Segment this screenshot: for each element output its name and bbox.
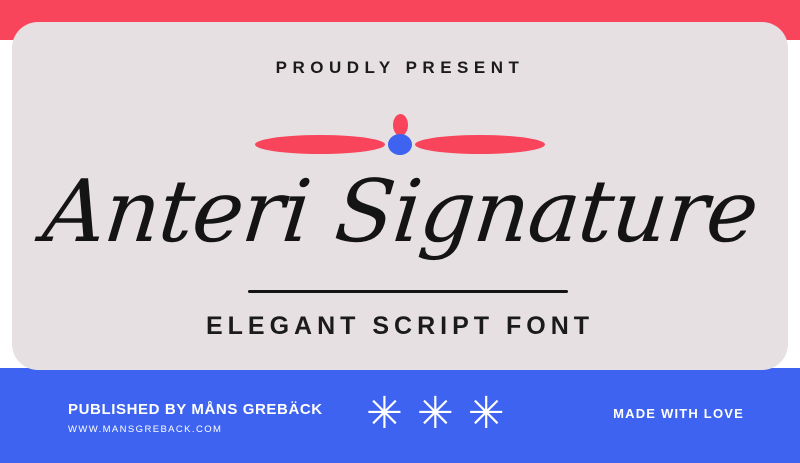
subtitle-label: ELEGANT SCRIPT FONT (12, 312, 788, 341)
footer-credits: PUBLISHED BY MÅNS GREBÄCK WWW.MANSGREBAC… (68, 401, 323, 435)
proudly-present-label: PROUDLY PRESENT (12, 58, 788, 78)
published-by-label: PUBLISHED BY MÅNS GREBÄCK (68, 401, 323, 418)
script-title-underline-flourish (248, 290, 568, 293)
script-title: Anteri Signature (12, 162, 788, 262)
ornament-dot-icon (388, 134, 412, 155)
decorative-ornament (12, 107, 788, 165)
asterisk-icon: ✳ (417, 397, 454, 431)
ornament-left-wing-icon (255, 135, 385, 154)
font-promo-poster: PROUDLY PRESENT Anteri Signature ELEGANT… (0, 0, 800, 463)
asterisk-icon: ✳ (366, 397, 403, 431)
script-title-text: Anteri Signature (38, 162, 761, 262)
star-decorations: ✳ ✳ ✳ (366, 397, 505, 431)
main-card: PROUDLY PRESENT Anteri Signature ELEGANT… (12, 22, 788, 370)
made-with-love-label: MADE WITH LOVE (613, 406, 744, 421)
asterisk-icon: ✳ (468, 397, 505, 431)
website-label: WWW.MANSGREBACK.COM (68, 424, 323, 435)
ornament-drop-icon (393, 114, 408, 136)
ornament-right-wing-icon (415, 135, 545, 154)
